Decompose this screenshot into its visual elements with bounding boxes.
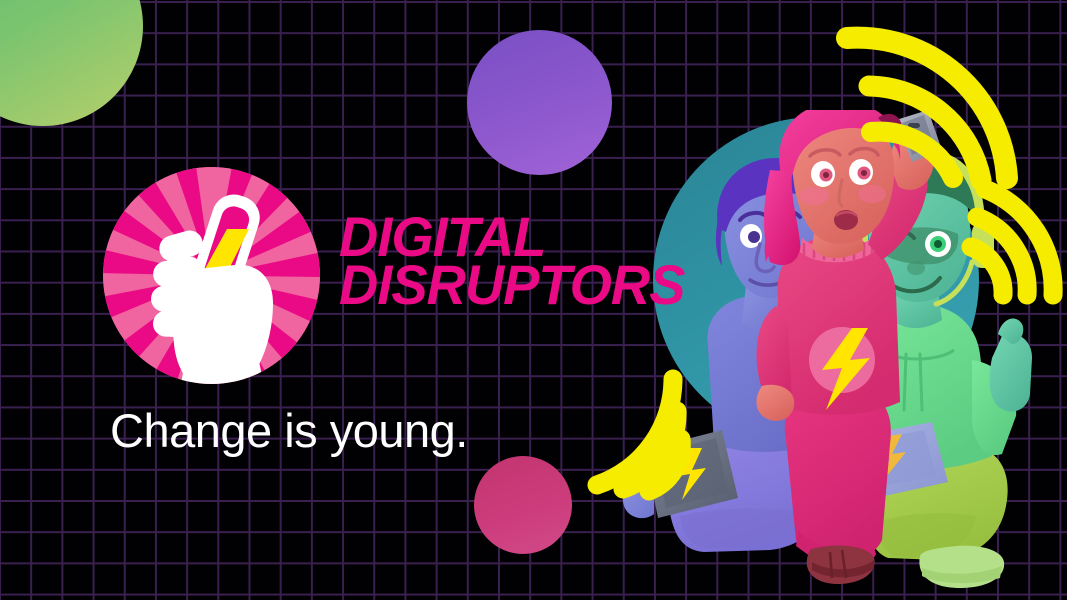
- purple-circle: [467, 30, 612, 175]
- pink-circle: [474, 456, 572, 554]
- wordmark-line-2: DISRUPTORS: [339, 261, 684, 309]
- digital-disruptors-badge[interactable]: [103, 167, 320, 384]
- poster-canvas: DIGITAL DISRUPTORS Change is young.: [0, 0, 1067, 600]
- wifi-arcs-right: [955, 165, 1067, 315]
- raised-fist-holding-phone-icon: [103, 167, 320, 384]
- tagline: Change is young.: [110, 403, 468, 458]
- wifi-arcs-lower-left: [583, 363, 713, 503]
- wordmark: DIGITAL DISRUPTORS: [339, 213, 695, 308]
